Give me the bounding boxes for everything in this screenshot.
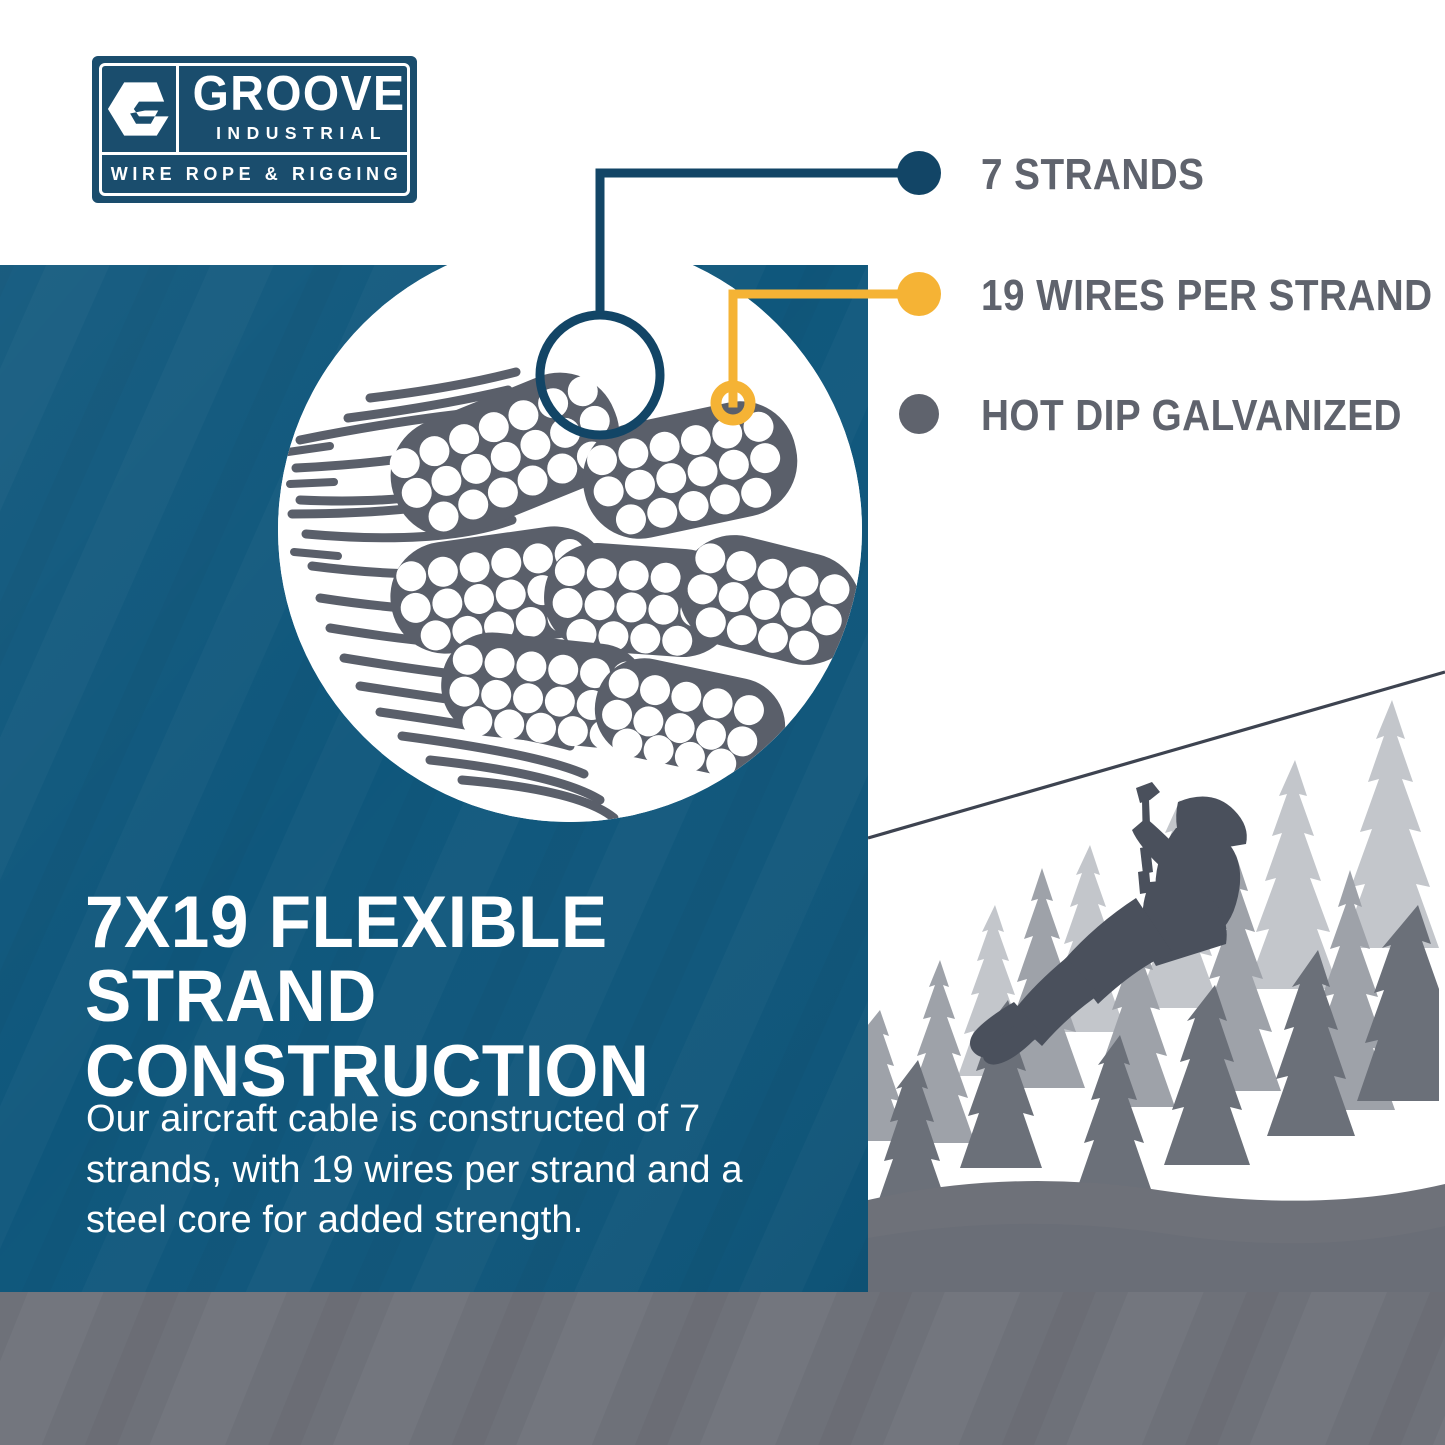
- callout-dot-wires: [897, 272, 941, 316]
- callout-dot-galvanized: [899, 394, 939, 434]
- callout-strands: 7 STRANDS: [955, 150, 1235, 200]
- logo-frame: GROOVE INDUSTRIAL WIRE ROPE & RIGGING: [99, 63, 410, 196]
- brand-logo[interactable]: GROOVE INDUSTRIAL WIRE ROPE & RIGGING: [88, 52, 421, 207]
- logo-tagline: WIRE ROPE & RIGGING: [107, 164, 402, 185]
- callout-label-strands: 7 STRANDS: [981, 150, 1204, 200]
- body-copy: Our aircraft cable is constructed of 7 s…: [86, 1094, 746, 1246]
- callout-hot-dip-galvanized: HOT DIP GALVANIZED: [955, 391, 1445, 441]
- callout-label-wires-per-strand: 19 WIRES PER STRAND: [981, 271, 1433, 321]
- callout-dot-strands: [897, 151, 941, 195]
- groove-g-monogram-icon: [102, 72, 176, 146]
- logo-mark-cell: [102, 66, 179, 152]
- page-headline: 7X19 FLEXIBLE STRAND CONSTRUCTION: [85, 886, 807, 1109]
- headline-line-2: STRAND CONSTRUCTION: [85, 960, 807, 1109]
- logo-top-row: GROOVE INDUSTRIAL: [102, 66, 407, 155]
- headline-line-1: 7X19 FLEXIBLE: [85, 886, 807, 960]
- logo-brand-subtitle: INDUSTRIAL: [211, 123, 387, 144]
- bottom-bar: [0, 1292, 1445, 1445]
- logo-brand-name: GROOVE: [193, 72, 406, 117]
- logo-tagline-row: WIRE ROPE & RIGGING: [102, 155, 407, 193]
- callout-label-hot-dip-galvanized: HOT DIP GALVANIZED: [981, 391, 1402, 441]
- callout-wires-per-strand: 19 WIRES PER STRAND: [955, 271, 1445, 321]
- infographic-page: GROOVE INDUSTRIAL WIRE ROPE & RIGGING 7 …: [0, 0, 1445, 1445]
- logo-wordmark: GROOVE INDUSTRIAL: [179, 70, 417, 147]
